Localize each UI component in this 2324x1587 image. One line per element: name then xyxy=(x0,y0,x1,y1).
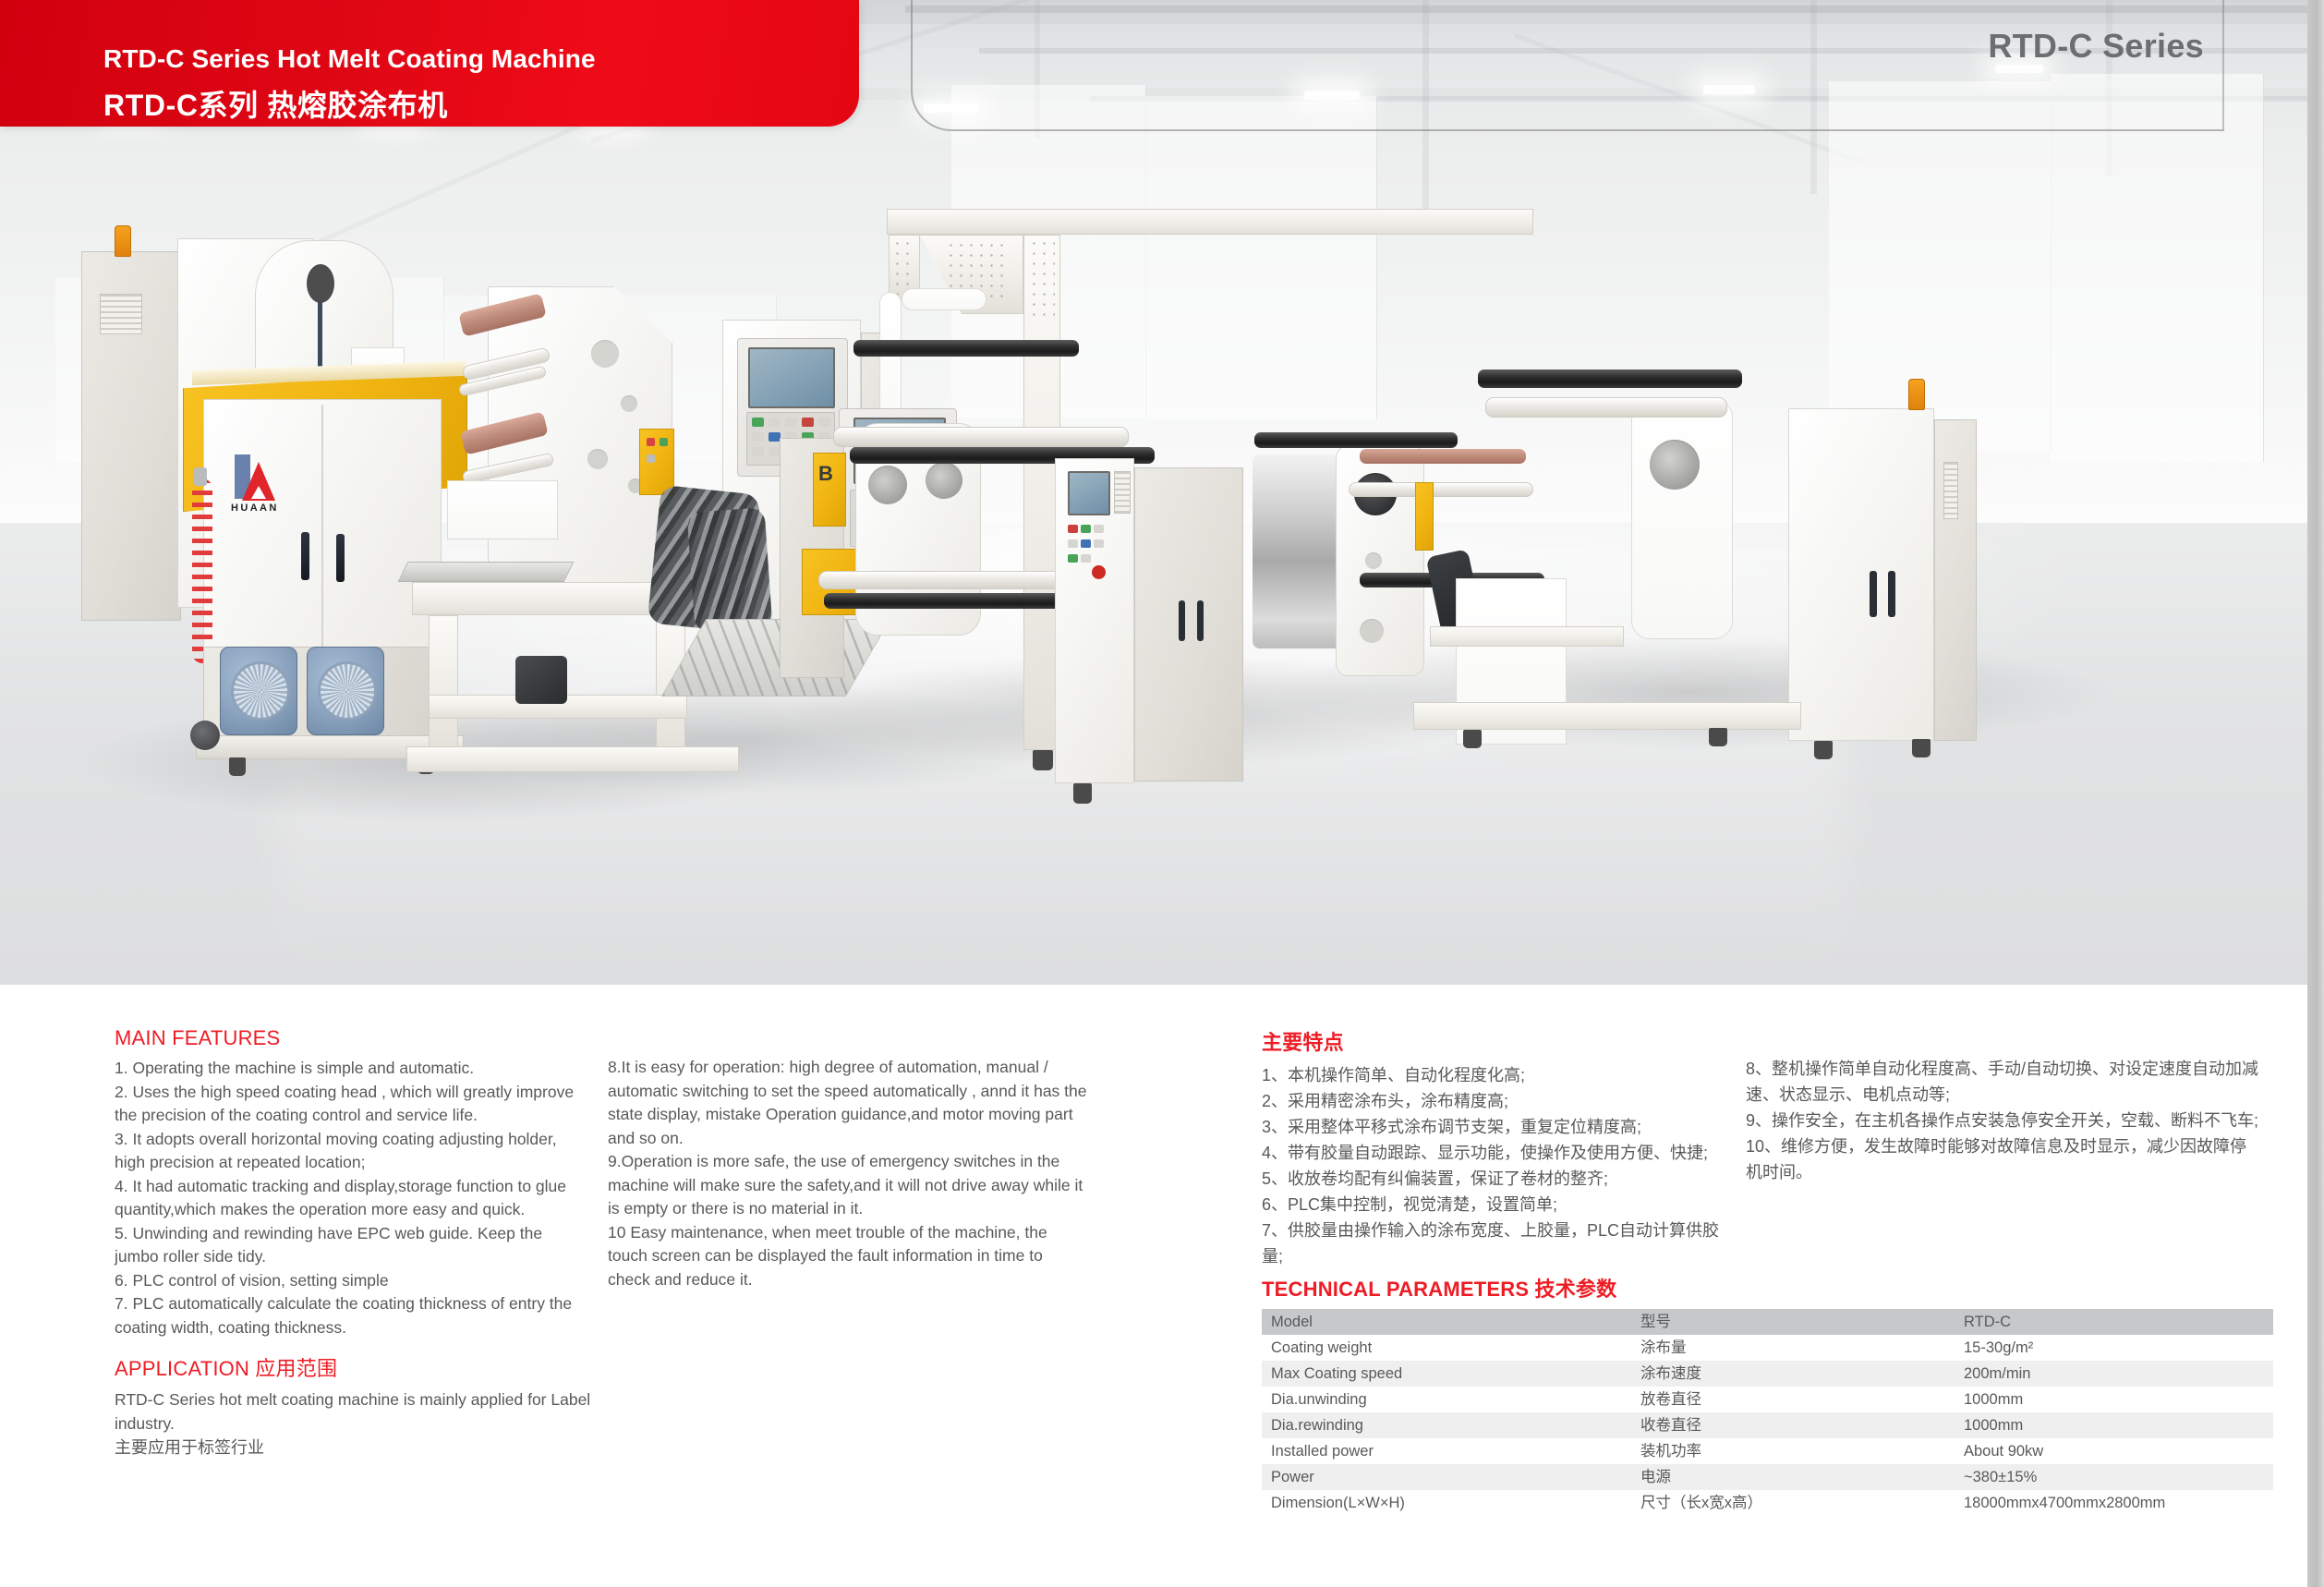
table-cell-en: Installed power xyxy=(1262,1438,1631,1464)
pillar-key xyxy=(1068,554,1078,563)
decorative-frame xyxy=(911,0,2224,131)
banner-title-en: RTD-C Series Hot Melt Coating Machine xyxy=(103,44,596,74)
feature-item-cn: 5、收放卷均配有纠偏装置，保证了卷材的整齐; xyxy=(1262,1166,1724,1192)
table-cell-cn: 装机功率 xyxy=(1631,1438,1955,1464)
gantry-bolt-grid xyxy=(892,238,916,296)
signal-beacon xyxy=(115,225,131,257)
feature-item: 9.Operation is more safe, the use of eme… xyxy=(608,1150,1088,1221)
title-banner: RTD-C Series Hot Melt Coating Machine RT… xyxy=(0,0,859,127)
feature-item-cn: 8、整机操作简单自动化程度高、手动/自动切换、对设定速度自动加减速、状态显示、电… xyxy=(1746,1056,2263,1108)
pillar-key xyxy=(1094,539,1104,548)
keypad-key xyxy=(752,447,764,456)
table-cell-en: Coating weight xyxy=(1262,1335,1631,1361)
application-line: 主要应用于标签行业 xyxy=(115,1436,595,1460)
feature-item-cn: 4、带有胶量自动跟踪、显示功能，使操作及使用方便、快捷; xyxy=(1262,1140,1724,1166)
coiled-cable xyxy=(192,479,212,663)
table-row: Dia.rewinding 收卷直径 1000mm xyxy=(1262,1412,2273,1438)
keypad-key xyxy=(785,418,797,427)
rewind-right-arm xyxy=(1631,399,1733,639)
cabinet-handle-right xyxy=(336,534,345,582)
table-cell-value: 1000mm xyxy=(1955,1412,2273,1438)
pillar-vent xyxy=(1114,471,1131,514)
table-cell-value: 18000mmx4700mmx2800mm xyxy=(1955,1490,2273,1516)
panel-letter-b: B xyxy=(818,462,833,486)
rewinder-control-pillar-side xyxy=(1134,467,1243,781)
rewind-shaft-right xyxy=(1485,397,1727,418)
emergency-stop xyxy=(1092,565,1106,579)
steel-tray xyxy=(398,562,575,582)
page-edge xyxy=(2307,0,2324,1587)
product-photo: HUAAN xyxy=(0,0,2324,985)
signal-beacon xyxy=(1908,379,1925,410)
nip-roller xyxy=(1254,432,1458,448)
indicator-light xyxy=(660,438,668,446)
table-row: Coating weight 涂布量 15-30g/m² xyxy=(1262,1335,2273,1361)
table-cell-cn: 收卷直径 xyxy=(1631,1412,1955,1438)
indicator-light xyxy=(647,454,655,463)
table-cell-en: Dia.rewinding xyxy=(1262,1412,1631,1438)
table-cell-value: RTD-C xyxy=(1955,1309,2273,1335)
cabinet-door-split xyxy=(321,405,323,652)
pillar-key xyxy=(1081,554,1091,563)
table-cell-en: Power xyxy=(1262,1464,1631,1490)
platform-leg xyxy=(429,615,458,754)
feature-item-cn: 6、PLC集中控制，视觉清楚，设置简单; xyxy=(1262,1192,1724,1218)
pillar-key xyxy=(1094,525,1104,533)
spreader-roller xyxy=(1349,482,1533,497)
table-cell-en: Dia.unwinding xyxy=(1262,1387,1631,1412)
rewind-chuck xyxy=(868,466,907,504)
feature-item: 6. PLC control of vision, setting simple xyxy=(115,1269,576,1293)
technical-parameters-section: TECHNICAL PARAMETERS 技术参数 Model 型号 RTD-C… xyxy=(1262,1273,2273,1516)
gantry-top-beam xyxy=(887,209,1533,235)
application-heading: APPLICATION 应用范围 xyxy=(115,1352,595,1382)
frame-bore xyxy=(621,395,637,412)
application-text: RTD-C Series hot melt coating machine is… xyxy=(115,1388,595,1460)
table-cell-cn: 电源 xyxy=(1631,1464,1955,1490)
gantry-foot xyxy=(1033,750,1053,770)
brochure-page: HUAAN xyxy=(0,0,2324,1587)
feature-item: 3. It adopts overall horizontal moving c… xyxy=(115,1128,576,1175)
keypad-key xyxy=(752,432,764,442)
table-row: Dia.unwinding 放卷直径 1000mm xyxy=(1262,1387,2273,1412)
blower-fan-2 xyxy=(318,661,377,721)
table-row: Power 电源 ~380±15% xyxy=(1262,1464,2273,1490)
indicator-light xyxy=(647,438,655,446)
table-cell-cn: 涂布速度 xyxy=(1631,1361,1955,1387)
feature-item-cn: 9、操作安全，在主机各操作点安装急停安全开关，空载、断料不飞车; xyxy=(1746,1108,2263,1133)
feature-item: 2. Uses the high speed coating head , wh… xyxy=(115,1081,576,1128)
table-cell-en: Dimension(L×W×H) xyxy=(1262,1490,1631,1516)
tension-roller xyxy=(1360,449,1526,464)
cable-connector xyxy=(194,467,207,486)
main-features-cn-heading: 主要特点 xyxy=(1262,1026,1724,1056)
feature-item: 1. Operating the machine is simple and a… xyxy=(115,1057,576,1081)
table-cell-value: ~380±15% xyxy=(1955,1464,2273,1490)
decorative-frame-edge xyxy=(2222,0,2224,129)
pillar-key xyxy=(1081,539,1091,548)
end-cabinet-handle xyxy=(1888,571,1895,617)
feature-item-cn: 7、供胶量由操作输入的涂布宽度、上胶量，PLC自动计算供胶量; xyxy=(1262,1218,1724,1269)
table-cell-value: About 90kw xyxy=(1955,1438,2273,1464)
table-cell-en: Model xyxy=(1262,1309,1631,1335)
application-section: APPLICATION 应用范围 RTD-C Series hot melt c… xyxy=(115,1352,595,1460)
gantry-bolt-grid xyxy=(1029,238,1055,320)
keypad-key xyxy=(752,418,764,427)
table-cell-cn: 放卷直径 xyxy=(1631,1387,1955,1412)
side-guard-small xyxy=(1415,482,1434,551)
head-support-bracket xyxy=(447,480,558,539)
huaan-logo: HUAAN xyxy=(229,454,309,512)
logo-arrow-notch xyxy=(251,486,266,499)
feature-item: 8.It is easy for operation: high degree … xyxy=(608,1056,1088,1150)
main-features-list-2: 8.It is easy for operation: high degree … xyxy=(608,1056,1088,1291)
rewind-shaft xyxy=(833,427,1129,447)
table-cell-cn: 涂布量 xyxy=(1631,1335,1955,1361)
machine-base-right xyxy=(1413,702,1801,730)
specs-content: MAIN FEATURES 1. Operating the machine i… xyxy=(0,985,2324,1587)
feature-item-cn: 1、本机操作简单、自动化程度化高; xyxy=(1262,1062,1724,1088)
main-features-heading: MAIN FEATURES xyxy=(115,1026,576,1050)
table-row: Max Coating speed 涂布速度 200m/min xyxy=(1262,1361,2273,1387)
coating-machine-illustration: HUAAN xyxy=(74,185,2272,951)
table-cell-cn: 尺寸（长x宽x高） xyxy=(1631,1490,1955,1516)
table-cell-value: 15-30g/m² xyxy=(1955,1335,2273,1361)
feature-item-cn: 2、采用精密涂布头，涂布精度高; xyxy=(1262,1088,1724,1114)
chill-roll xyxy=(1253,454,1341,648)
frame-bore xyxy=(587,449,608,469)
gearbox xyxy=(515,656,567,704)
main-features-list-1: 1. Operating the machine is simple and a… xyxy=(115,1057,576,1339)
main-features-cn-column-2: 8、整机操作简单自动化程度高、手动/自动切换、对设定速度自动加减速、状态显示、电… xyxy=(1746,1056,2263,1185)
frame-bore xyxy=(1365,552,1382,569)
main-features-column-1: MAIN FEATURES 1. Operating the machine i… xyxy=(115,1026,576,1339)
banner-title-cn: RTD-C系列 热熔胶涂布机 xyxy=(103,82,448,125)
technical-parameters-heading: TECHNICAL PARAMETERS 技术参数 xyxy=(1262,1273,2273,1302)
main-features-column-2: 8.It is easy for operation: high degree … xyxy=(608,1056,1088,1291)
table-cell-cn: 型号 xyxy=(1631,1309,1955,1335)
keypad-key xyxy=(769,418,781,427)
leveling-foot xyxy=(1463,730,1482,748)
leveling-foot xyxy=(1814,741,1833,759)
feature-item: 4. It had automatic tracking and display… xyxy=(115,1175,576,1222)
feature-item-cn: 3、采用整体平移式涂布调节支架，重复定位精度高; xyxy=(1262,1114,1724,1140)
logo-text: HUAAN xyxy=(231,503,279,514)
gantry-swing-arm xyxy=(902,288,986,310)
table-row: Installed power 装机功率 About 90kw xyxy=(1262,1438,2273,1464)
operator-box-yellow xyxy=(639,429,674,495)
main-features-cn-column-1: 主要特点 1、本机操作简单、自动化程度化高; 2、采用精密涂布头，涂布精度高; … xyxy=(1262,1026,1724,1269)
end-cabinet-vent xyxy=(1943,462,1958,519)
leveling-foot xyxy=(1073,783,1092,804)
frame-bore xyxy=(1360,619,1384,643)
feature-item: 10 Easy maintenance, when meet trouble o… xyxy=(608,1221,1088,1292)
pillar-hmi-screen xyxy=(1068,471,1110,515)
technical-parameters-table: Model 型号 RTD-C Coating weight 涂布量 15-30g… xyxy=(1262,1309,2273,1516)
keypad-key xyxy=(802,418,814,427)
pillar-door-handle xyxy=(1197,600,1204,641)
main-features-cn-list-2: 8、整机操作简单自动化程度高、手动/自动切换、对设定速度自动加减速、状态显示、电… xyxy=(1746,1056,2263,1185)
series-label: RTD-C Series xyxy=(1988,27,2204,66)
rewind-roller-right xyxy=(1478,369,1742,388)
hose-bundle xyxy=(687,507,773,633)
table-cell-value: 200m/min xyxy=(1955,1361,2273,1387)
pillar-key xyxy=(1081,525,1091,533)
feature-item-cn: 10、维修方便，发生故障时能够对故障信息及时显示，减少因故障停机时间。 xyxy=(1746,1133,2263,1185)
leveling-foot xyxy=(1709,728,1727,746)
caster-wheel xyxy=(190,721,220,750)
rewind-chuck-right xyxy=(1650,440,1700,490)
vent-grille xyxy=(100,294,142,334)
frame-bore xyxy=(591,340,619,368)
hmi-screen xyxy=(748,347,835,408)
feature-item: 5. Unwinding and rewinding have EPC web … xyxy=(115,1222,576,1269)
pillar-key xyxy=(1068,525,1078,533)
arm-bore xyxy=(307,264,334,303)
rewind-chuck xyxy=(926,462,962,499)
table-cell-en: Max Coating speed xyxy=(1262,1361,1631,1387)
leveling-foot xyxy=(229,757,246,776)
slitter-rail xyxy=(1430,626,1624,647)
feature-item: 7. PLC automatically calculate the coati… xyxy=(115,1292,576,1339)
blower-fan-1 xyxy=(231,661,290,721)
machine-base-mid xyxy=(406,746,739,772)
table-row: Model 型号 RTD-C xyxy=(1262,1309,2273,1335)
table-row: Dimension(L×W×H) 尺寸（长x宽x高） 18000mmx4700m… xyxy=(1262,1490,2273,1516)
pillar-key xyxy=(1068,539,1078,548)
cabinet-handle-left xyxy=(301,532,309,580)
end-cabinet xyxy=(1788,408,1934,741)
main-features-cn-list-1: 1、本机操作简单、自动化程度化高; 2、采用精密涂布头，涂布精度高; 3、采用整… xyxy=(1262,1062,1724,1269)
leveling-foot xyxy=(1912,739,1931,757)
keypad-key xyxy=(818,418,830,427)
application-line: RTD-C Series hot melt coating machine is… xyxy=(115,1388,595,1436)
end-cabinet-handle xyxy=(1870,571,1877,617)
top-roller-gantry xyxy=(853,340,1079,357)
table-cell-value: 1000mm xyxy=(1955,1387,2273,1412)
pillar-door-handle xyxy=(1179,600,1185,641)
